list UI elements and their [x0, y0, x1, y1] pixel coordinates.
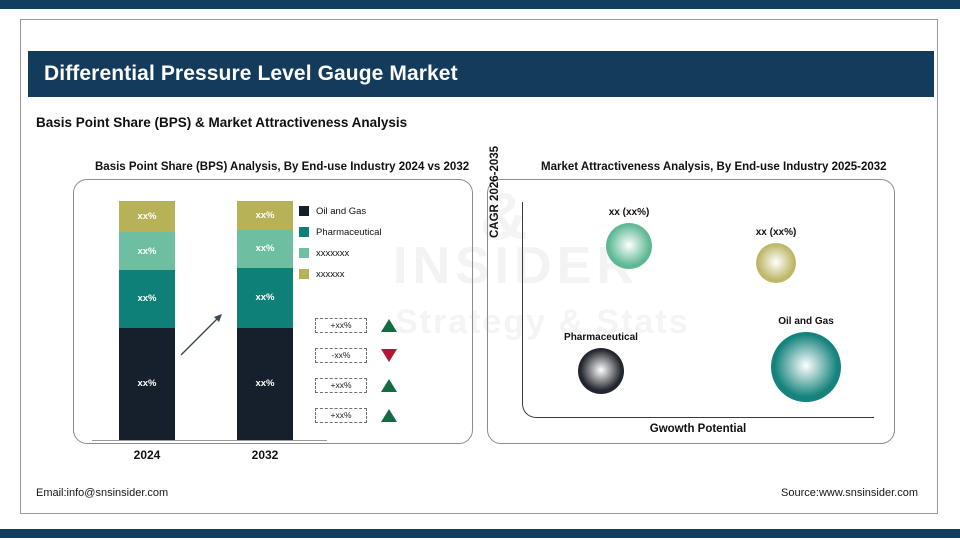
legend-item-label: xxxxxxx [316, 248, 349, 259]
triangle-up-icon [381, 319, 397, 332]
bps-legend: Oil and GasPharmaceuticalxxxxxxxxxxxxx [299, 201, 419, 285]
footer-source: Source:www.snsinsider.com [781, 487, 918, 499]
legend-item-label: Oil and Gas [316, 206, 366, 217]
bar-segment-2032-0[interactable]: xx% [237, 201, 293, 230]
triangle-down-icon [381, 349, 397, 362]
bar-segment-2032-1[interactable]: xx% [237, 230, 293, 268]
triangle-up-icon [381, 379, 397, 392]
delta-value: -xx% [315, 348, 367, 363]
delta-value: +xx% [315, 378, 367, 393]
bar-segment-value: xx% [255, 292, 274, 303]
footer-email: Email:info@snsinsider.com [36, 487, 168, 499]
bubble-3[interactable] [771, 332, 841, 402]
stacked-bar-2032[interactable]: xx%xx%xx%xx% [237, 201, 293, 440]
growth-arrow-icon [178, 312, 224, 358]
page-subtitle: Basis Point Share (BPS) & Market Attract… [36, 115, 407, 130]
bar-segment-value: xx% [255, 210, 274, 221]
bar-segment-value: xx% [255, 378, 274, 389]
title-band: Differential Pressure Level Gauge Market [28, 51, 934, 97]
delta-row-2: +xx% [315, 372, 397, 398]
legend-item-0[interactable]: Oil and Gas [299, 201, 419, 221]
legend-item-3[interactable]: xxxxxx [299, 264, 419, 284]
bps-x-axis [92, 440, 327, 441]
legend-swatch-icon [299, 248, 309, 258]
bar-segment-2032-2[interactable]: xx% [237, 268, 293, 328]
bubble-0[interactable] [606, 223, 652, 269]
legend-swatch-icon [299, 206, 309, 216]
bar-segment-value: xx% [137, 211, 156, 222]
delta-value: +xx% [315, 408, 367, 423]
delta-row-3: +xx% [315, 402, 397, 428]
bar-segment-2032-3[interactable]: xx% [237, 328, 293, 440]
delta-value: +xx% [315, 318, 367, 333]
stacked-bar-2024[interactable]: xx%xx%xx%xx% [119, 201, 175, 440]
bar-segment-2024-1[interactable]: xx% [119, 232, 175, 270]
legend-swatch-icon [299, 227, 309, 237]
bubble-1[interactable] [756, 243, 796, 283]
page-title: Differential Pressure Level Gauge Market [44, 62, 458, 86]
legend-item-2[interactable]: xxxxxxx [299, 243, 419, 263]
x-tick-2032: 2032 [230, 448, 300, 462]
legend-item-1[interactable]: Pharmaceutical [299, 222, 419, 242]
bar-segment-2024-0[interactable]: xx% [119, 201, 175, 232]
bubble-label-3: Oil and Gas [778, 316, 834, 327]
attractiveness-x-axis-label: Gwowth Potential [522, 423, 874, 435]
attractiveness-chart-heading: Market Attractiveness Analysis, By End-u… [541, 161, 887, 173]
legend-item-label: Pharmaceutical [316, 227, 381, 238]
bps-delta-list: +xx%-xx%+xx%+xx% [315, 312, 397, 432]
bar-segment-2024-2[interactable]: xx% [119, 270, 175, 327]
bar-segment-value: xx% [255, 243, 274, 254]
bar-segment-value: xx% [137, 293, 156, 304]
slide-root: Differential Pressure Level Gauge Market… [0, 0, 960, 540]
bar-segment-2024-3[interactable]: xx% [119, 328, 175, 440]
triangle-up-icon [381, 409, 397, 422]
bubble-label-0: xx (xx%) [609, 207, 650, 218]
bar-segment-value: xx% [137, 378, 156, 389]
bar-segment-value: xx% [137, 246, 156, 257]
attractiveness-y-axis-label: CAGR 2026-2035 [489, 146, 501, 238]
delta-row-1: -xx% [315, 342, 397, 368]
bubble-label-1: xx (xx%) [756, 227, 797, 238]
x-tick-2024: 2024 [112, 448, 182, 462]
bubble-2[interactable] [578, 348, 624, 394]
delta-row-0: +xx% [315, 312, 397, 338]
bps-chart-heading: Basis Point Share (BPS) Analysis, By End… [95, 161, 469, 173]
top-accent-bar [0, 0, 960, 9]
bottom-accent-bar [0, 529, 960, 538]
legend-swatch-icon [299, 269, 309, 279]
legend-item-label: xxxxxx [316, 269, 345, 280]
bubble-label-2: Pharmaceutical [564, 332, 638, 343]
